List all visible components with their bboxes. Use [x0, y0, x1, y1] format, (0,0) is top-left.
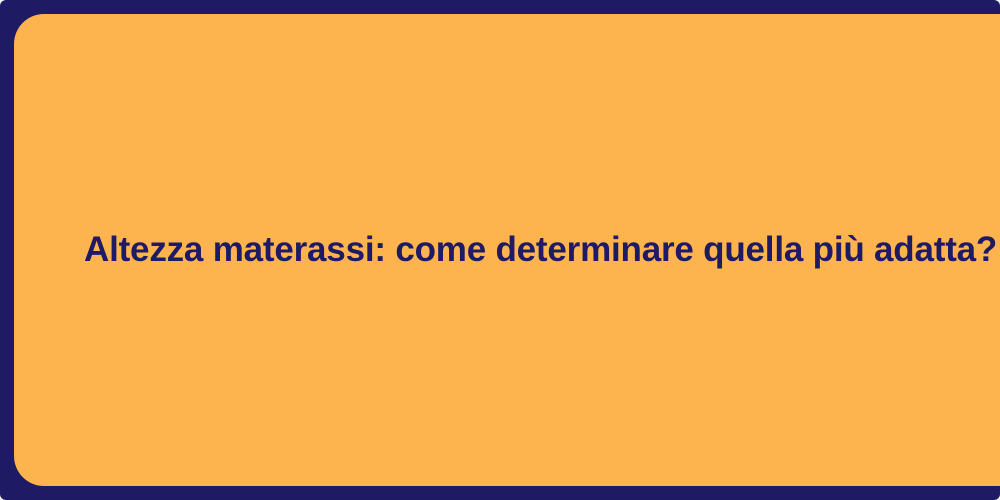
- article-card-panel: Altezza materassi: come determinare quel…: [14, 14, 1000, 486]
- article-card-frame: Altezza materassi: come determinare quel…: [0, 0, 1000, 500]
- article-title: Altezza materassi: come determinare quel…: [84, 228, 997, 272]
